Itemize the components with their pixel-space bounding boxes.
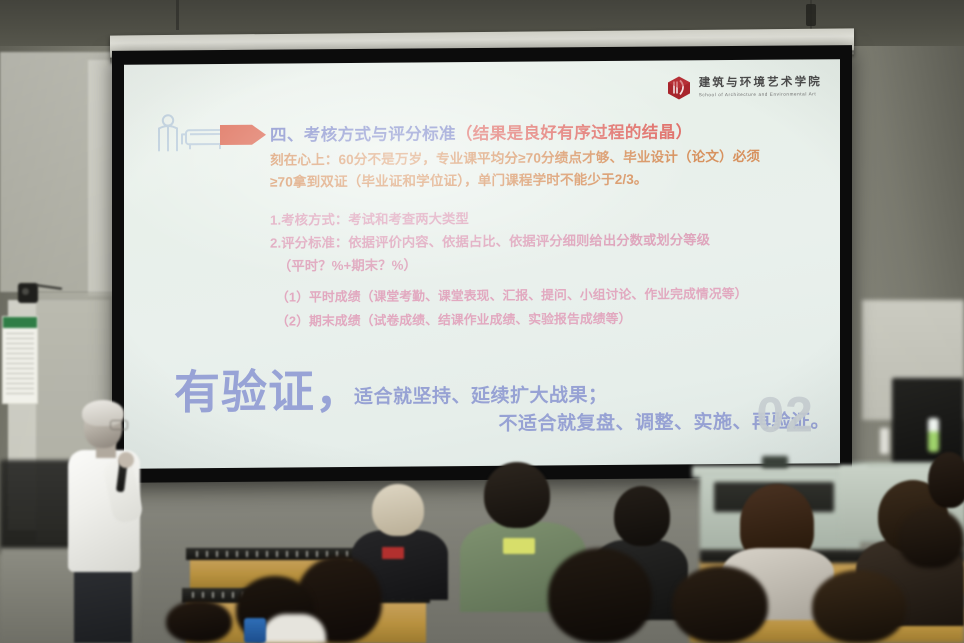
notice-board-header [3, 317, 37, 328]
big-statement-lead: 有验证， [174, 368, 362, 415]
slide-numbered-items: 1.考核方式：考试和考查两大类型 2.评分标准：依据评价内容、依据占比、依据评分… [270, 205, 840, 278]
student-head [672, 566, 768, 643]
slide-body-paragraph: 刻在心上：60分不是万岁，专业课平均分≥70分绩点才够、毕业设计（论文）必须 ≥… [270, 145, 826, 194]
school-logo: 建筑与环境艺术学院 School of Architecture and Env… [666, 73, 822, 100]
slide-title-paren: （结果是良好有序过程的结晶） [456, 123, 693, 143]
student-head [372, 484, 424, 536]
student-head [812, 570, 906, 643]
ceiling-bracket [806, 4, 816, 26]
body-line-1: 刻在心上：60分不是万岁，专业课平均分≥70分绩点才够、毕业设计（论文）必须 [270, 145, 826, 172]
classroom-photo-scene: 建筑与环境艺术学院 School of Architecture and Env… [0, 0, 964, 643]
numbered-item-2-note: （平时？%+期末？%） [270, 251, 840, 278]
big-statement-line-1: 适合就坚持、延续扩大战果； [354, 385, 608, 408]
student-head [928, 452, 964, 508]
student-head [614, 486, 670, 546]
presenter-trousers [74, 560, 132, 643]
sub-item-2: （2）期末成绩（试卷成绩、结课作业成绩、实验报告成绩等） [276, 305, 840, 333]
body-line-2: ≥70拿到双证（毕业证和学位证），单门课程学时不能少于2/3。 [270, 168, 826, 195]
logo-mark-icon [666, 74, 692, 100]
logo-name-cn: 建筑与环境艺术学院 [699, 76, 822, 90]
blue-object-on-desk [244, 618, 266, 643]
slide-content: 建筑与环境艺术学院 School of Architecture and Env… [124, 59, 840, 469]
student-tee-graphic [503, 538, 535, 554]
slide-title: 四、考核方式与评分标准（结果是良好有序过程的结晶） [270, 118, 693, 145]
cup-icon [880, 428, 889, 454]
logo-text-block: 建筑与环境艺术学院 School of Architecture and Env… [699, 76, 822, 97]
ceiling-seam [176, 0, 179, 30]
logo-name-en: School of Architecture and Environmental… [699, 91, 822, 97]
student-head [166, 600, 232, 643]
lectern-object [762, 456, 788, 468]
slide-page-number: 02 [756, 385, 814, 443]
student-shirt-patch [382, 547, 404, 559]
water-bottle-icon [928, 418, 939, 452]
right-arrow-pointer [220, 122, 268, 153]
slide-big-statement: 有验证， 适合就坚持、延续扩大战果； 不适合就复盘、调整、实施、再验证。 [154, 364, 840, 369]
student-head [548, 548, 652, 643]
slide-title-main: 四、考核方式与评分标准 [270, 125, 456, 144]
presenter-glasses-icon [110, 420, 128, 430]
slide-sub-items: （1）平时成绩（课堂考勤、课堂表现、汇报、提问、小组讨论、作业完成情况等） （2… [276, 281, 840, 333]
presenter-hand [118, 452, 134, 468]
notice-board-text-lines [6, 333, 34, 397]
student-collar [262, 614, 326, 643]
wall-notice-board [2, 316, 38, 404]
projected-slide: 建筑与环境艺术学院 School of Architecture and Env… [124, 59, 840, 469]
student-head [898, 508, 964, 568]
student-head [484, 462, 550, 528]
